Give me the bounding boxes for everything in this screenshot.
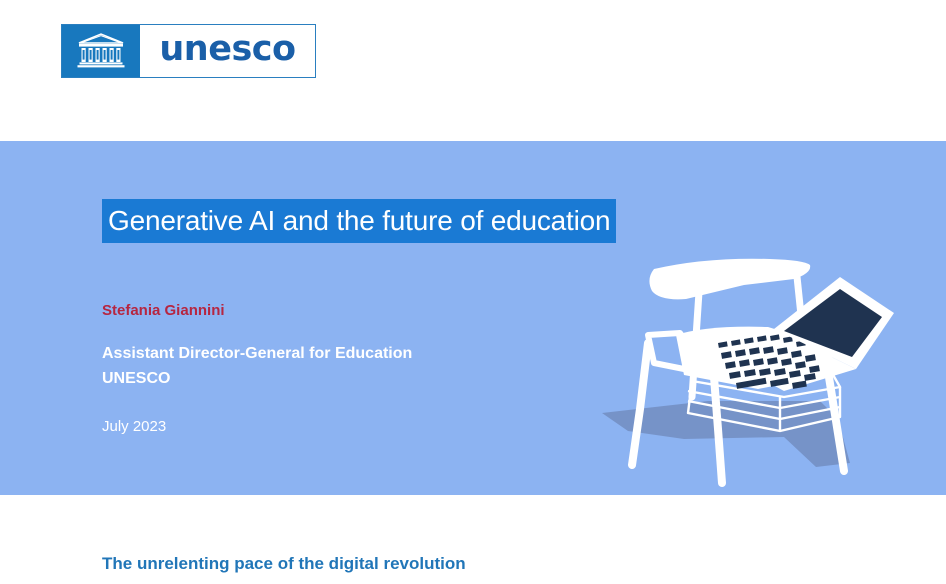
byline-block: Stefania Giannini Assistant Director-Gen… xyxy=(102,301,582,392)
chair-backrest xyxy=(649,259,810,300)
unesco-wordmark: unesco xyxy=(159,32,295,70)
author-name: Stefania Giannini xyxy=(102,301,582,321)
school-chair-with-laptop-illustration xyxy=(588,251,908,495)
title-wrap: Generative AI and the future of educatio… xyxy=(102,199,616,243)
header-band: unesco xyxy=(0,0,946,141)
unesco-logo[interactable]: unesco xyxy=(61,24,316,78)
author-role-line-1: Assistant Director-General for Education xyxy=(102,341,582,367)
logo-emblem-box xyxy=(62,25,140,77)
unesco-temple-emblem-icon xyxy=(76,32,126,70)
footer-band: The unrelenting pace of the digital revo… xyxy=(0,495,946,584)
author-role-line-2: UNESCO xyxy=(102,366,582,392)
hero-band: Generative AI and the future of educatio… xyxy=(0,141,946,495)
logo-wordmark-box: unesco xyxy=(140,25,315,77)
section-heading: The unrelenting pace of the digital revo… xyxy=(102,553,466,575)
presentation-date: July 2023 xyxy=(102,417,166,437)
slide-title: Generative AI and the future of educatio… xyxy=(102,199,616,243)
slide-root: unesco Generative AI and the future of e… xyxy=(0,0,946,584)
